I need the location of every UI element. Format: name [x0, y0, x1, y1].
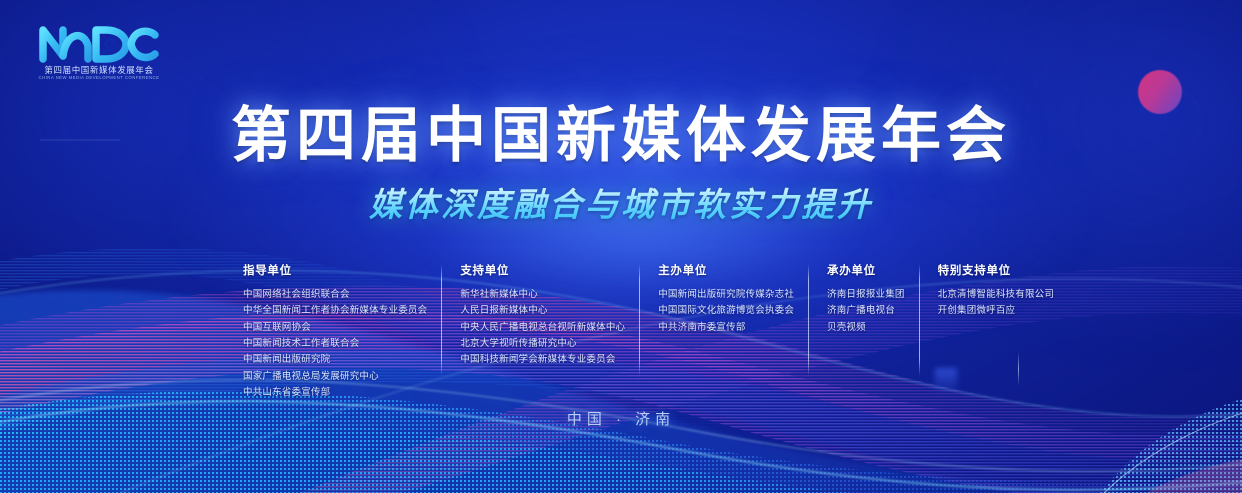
org-column-title: 承办单位: [827, 262, 905, 278]
org-item: 贝壳视频: [827, 320, 905, 336]
org-item: 开创集团微呼百应: [938, 303, 1054, 319]
nmdc-logo-icon: [36, 22, 162, 64]
org-column-support: 支持单位 新华社新媒体中心 人民日报新媒体中心 中央人民广播电视总台视听新媒体中…: [441, 262, 639, 369]
org-item: 中国新闻技术工作者联合会: [243, 336, 427, 352]
org-column-special-support: 特别支持单位 北京清博智能科技有限公司 开创集团微呼百应: [919, 262, 1068, 320]
org-item: 济南广播电视台: [827, 303, 905, 319]
org-column-title: 主办单位: [658, 262, 794, 278]
logo-english-name: CHINA NEW MEDIA DEVELOPMENT CONFERENCE: [36, 75, 162, 80]
event-logo: 第四届中国新媒体发展年会 CHINA NEW MEDIA DEVELOPMENT…: [36, 22, 162, 81]
org-item: 济南日报报业集团: [827, 287, 905, 303]
org-item: 中国新闻出版研究院: [243, 352, 427, 368]
org-item: 北京大学视听传播研究中心: [460, 336, 625, 352]
org-column-title: 支持单位: [460, 262, 625, 278]
org-item: 中央人民广播电视总台视听新媒体中心: [460, 320, 625, 336]
org-item: 中华全国新闻工作者协会新媒体专业委员会: [243, 303, 427, 319]
org-item: 中国新闻出版研究院传媒杂志社: [658, 287, 794, 303]
org-item: 中国互联网协会: [243, 320, 427, 336]
org-item: 中共济南市委宣传部: [658, 320, 794, 336]
decorative-square: [935, 368, 957, 394]
org-item: 人民日报新媒体中心: [460, 303, 625, 319]
poster-canvas: 第四届中国新媒体发展年会 CHINA NEW MEDIA DEVELOPMENT…: [0, 0, 1242, 493]
org-item: 北京清博智能科技有限公司: [938, 287, 1054, 303]
org-column-title: 指导单位: [243, 262, 427, 278]
organizations-block: 指导单位 中国网络社会组织联合会 中华全国新闻工作者协会新媒体专业委员会 中国互…: [243, 262, 1003, 401]
org-item: 中国科技新闻学会新媒体专业委员会: [460, 352, 625, 368]
org-column-title: 特别支持单位: [938, 262, 1054, 278]
logo-chinese-name: 第四届中国新媒体发展年会: [36, 66, 162, 75]
decorative-tick: [1018, 352, 1019, 386]
org-item: 中共山东省委宣传部: [243, 385, 427, 401]
org-item: 中国网络社会组织联合会: [243, 287, 427, 303]
org-column-host: 主办单位 中国新闻出版研究院传媒杂志社 中国国际文化旅游博览会执委会 中共济南市…: [639, 262, 808, 336]
decorative-circle: [1138, 70, 1182, 114]
event-location: 中国 · 济南: [0, 408, 1242, 429]
org-column-guiding: 指导单位 中国网络社会组织联合会 中华全国新闻工作者协会新媒体专业委员会 中国互…: [243, 262, 441, 401]
org-column-organizer: 承办单位 济南日报报业集团 济南广播电视台 贝壳视频: [808, 262, 919, 336]
org-item: 新华社新媒体中心: [460, 287, 625, 303]
org-item: 国家广播电视总局发展研究中心: [243, 369, 427, 385]
org-item: 中国国际文化旅游博览会执委会: [658, 303, 794, 319]
